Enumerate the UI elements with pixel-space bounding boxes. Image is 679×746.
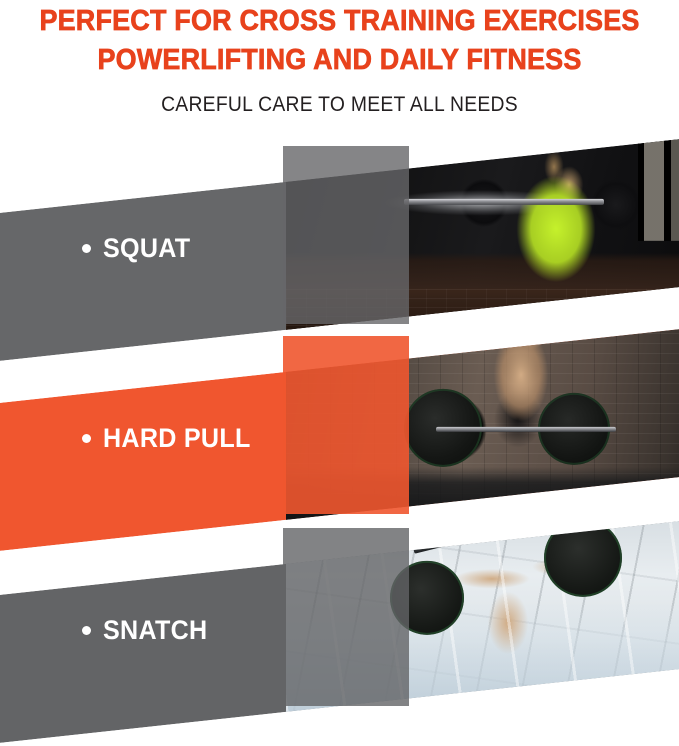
photo-image-hard-pull (286, 326, 679, 520)
photo-snatch-plate-right (544, 519, 622, 597)
photo-panel-hard-pull (286, 326, 679, 520)
label-text-hard-pull: HARD PULL (103, 424, 251, 452)
headline-line-1: PERFECT FOR CROSS TRAINING EXERCISES (24, 0, 655, 39)
bullet-icon (82, 626, 91, 635)
photo-panel-snatch (286, 518, 679, 712)
photo-squat-barbell (404, 199, 604, 205)
label-snatch: SNATCH (82, 616, 215, 644)
photo-hard-pull-barbell (436, 427, 616, 432)
label-text-squat: SQUAT (103, 234, 190, 262)
photo-image-snatch (286, 518, 679, 712)
photo-snatch-backdrop (286, 518, 679, 712)
bullet-icon (82, 434, 91, 443)
photo-snatch-plate-left (390, 561, 464, 635)
photo-panel-squat (286, 136, 679, 330)
headline-line-2: POWERLIFTING AND DAILY FITNESS (24, 39, 655, 78)
label-squat: SQUAT (82, 234, 197, 262)
photo-squat-backdrop (286, 136, 679, 330)
subtitle: CAREFUL CARE TO MEET ALL NEEDS (27, 78, 652, 118)
photo-hard-pull-backdrop (286, 326, 679, 520)
exercise-row-snatch[interactable]: SNATCH (0, 510, 679, 740)
photo-squat-window (638, 137, 679, 241)
photo-image-squat (286, 136, 679, 330)
exercise-rows: SQUAT HARD PULL (0, 128, 679, 722)
bullet-icon (82, 244, 91, 253)
label-text-snatch: SNATCH (103, 616, 207, 644)
header-block: PERFECT FOR CROSS TRAINING EXERCISES POW… (0, 0, 679, 128)
label-hard-pull: HARD PULL (82, 424, 262, 452)
